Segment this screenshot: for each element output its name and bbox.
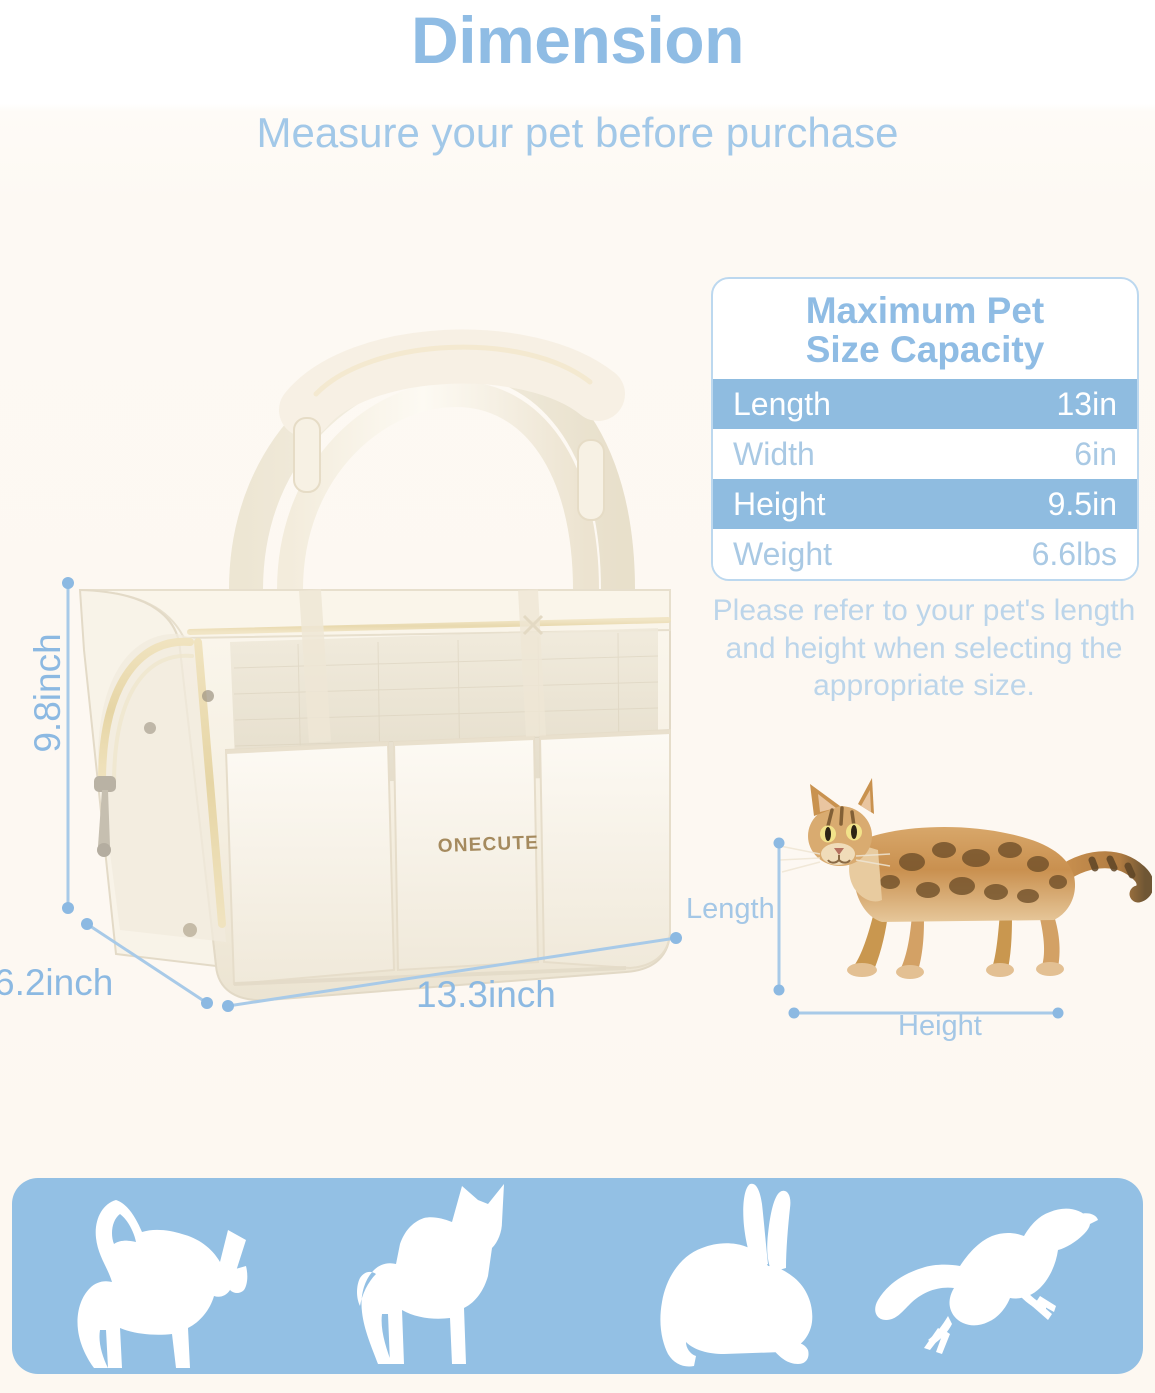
spec-card-title: Maximum Pet Size Capacity xyxy=(713,279,1137,379)
spec-card-title-line2: Size Capacity xyxy=(729,330,1121,369)
suitable-pets-banner xyxy=(12,1178,1143,1374)
table-row: Length 13in xyxy=(713,379,1137,429)
spec-card-title-line1: Maximum Pet xyxy=(729,291,1121,330)
page-title: Dimension xyxy=(0,4,1155,78)
max-pet-size-card: Maximum Pet Size Capacity Length 13in Wi… xyxy=(711,277,1139,581)
lizard-silhouette-icon xyxy=(852,1178,1112,1374)
product-carrier-image: ONECUTE xyxy=(58,290,698,1020)
infographic-page: Dimension Measure your pet before purcha… xyxy=(0,0,1155,1393)
spec-value-height: 9.5in xyxy=(1048,486,1117,523)
reference-cat-image xyxy=(762,770,1152,995)
page-subtitle: Measure your pet before purchase xyxy=(0,108,1155,158)
table-row: Weight 6.6lbs xyxy=(713,529,1137,579)
table-row: Width 6in xyxy=(713,429,1137,479)
bengal-cat-illustration xyxy=(762,770,1152,995)
spec-label-weight: Weight xyxy=(733,536,832,573)
spec-label-width: Width xyxy=(733,436,815,473)
pet-carrier-illustration: ONECUTE xyxy=(58,290,698,1020)
rabbit-silhouette-icon xyxy=(632,1178,832,1374)
dog-silhouette-icon xyxy=(332,1178,552,1374)
dimension-depth-label: 6.2inch xyxy=(0,962,113,1004)
cat-silhouette-icon xyxy=(50,1178,290,1374)
table-row: Height 9.5in xyxy=(713,479,1137,529)
spec-label-height: Height xyxy=(733,486,826,523)
cat-height-label: Height xyxy=(898,1010,982,1043)
spec-value-length: 13in xyxy=(1057,386,1118,423)
spec-label-length: Length xyxy=(733,386,831,423)
spec-value-width: 6in xyxy=(1074,436,1117,473)
sizing-note: Please refer to your pet's length and he… xyxy=(700,592,1148,705)
dimension-width-label: 13.3inch xyxy=(416,974,556,1016)
dimension-height-label: 9.8inch xyxy=(27,623,69,763)
cat-length-label: Length xyxy=(686,893,775,926)
spec-value-weight: 6.6lbs xyxy=(1032,536,1117,573)
product-brand-label: ONECUTE xyxy=(437,832,539,857)
